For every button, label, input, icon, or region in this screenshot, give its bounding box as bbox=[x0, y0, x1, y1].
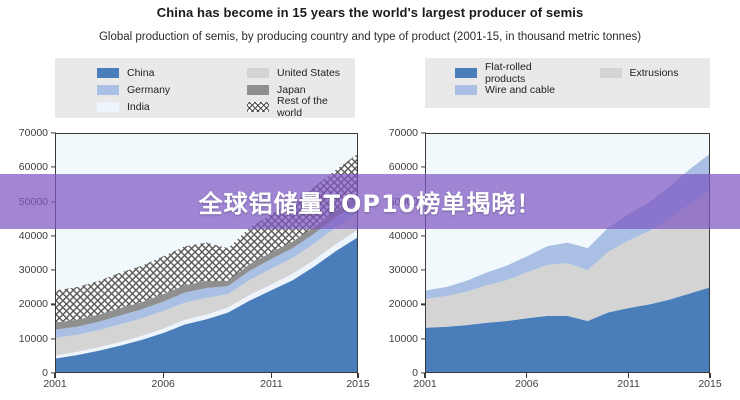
legend-swatch-icon bbox=[97, 85, 119, 95]
y-axis-tick-label: 10000 bbox=[19, 333, 48, 345]
x-axis-tick-mark bbox=[424, 373, 425, 378]
y-axis-tick-label: 60000 bbox=[19, 161, 48, 173]
y-axis-tick-mark bbox=[51, 270, 56, 271]
chart-page: China has become in 15 years the world's… bbox=[0, 0, 740, 400]
area-chart-left bbox=[56, 134, 357, 372]
y-axis-tick-label: 20000 bbox=[19, 298, 48, 310]
plot-area-right bbox=[425, 133, 710, 373]
legend-swatch-icon bbox=[247, 68, 269, 78]
legend-swatch-icon bbox=[455, 68, 477, 78]
promo-banner: 全球铝储量TOP10榜单揭晓！ bbox=[0, 174, 740, 229]
y-axis-tick-label: 20000 bbox=[389, 298, 418, 310]
legend-product-item[interactable]: Wire and cable bbox=[425, 81, 568, 98]
legend-product-types: Flat-rolled productsExtrusionsWire and c… bbox=[425, 58, 710, 108]
legend-label: China bbox=[127, 67, 154, 79]
x-axis-tick-label: 2001 bbox=[413, 378, 436, 390]
x-axis-tick-label: 2006 bbox=[515, 378, 538, 390]
legend-swatch-icon bbox=[97, 102, 119, 112]
legend-swatch-icon bbox=[247, 85, 269, 95]
y-axis-tick-label: 10000 bbox=[389, 333, 418, 345]
legend-product-item[interactable]: Flat-rolled products bbox=[425, 64, 568, 81]
y-axis-tick-label: 40000 bbox=[19, 230, 48, 242]
legend-product-item[interactable]: Extrusions bbox=[568, 64, 711, 81]
legend-country-item[interactable]: China bbox=[55, 64, 205, 81]
x-axis-tick-mark bbox=[628, 373, 629, 378]
legend-country-item[interactable]: Rest of the world bbox=[205, 98, 355, 115]
y-axis-tick-mark bbox=[421, 270, 426, 271]
legend-label: Germany bbox=[127, 84, 170, 96]
legend-swatch-icon bbox=[97, 68, 119, 78]
x-axis-tick-label: 2011 bbox=[260, 378, 283, 390]
chart-by-product-type: 0100002000030000400005000060000700002001… bbox=[425, 133, 710, 373]
y-axis-tick-label: 40000 bbox=[389, 230, 418, 242]
y-axis-tick-label: 30000 bbox=[389, 264, 418, 276]
legend-country-item[interactable]: Germany bbox=[55, 81, 205, 98]
x-axis-tick-mark bbox=[709, 373, 710, 378]
x-axis-tick-label: 2001 bbox=[43, 378, 66, 390]
y-axis-tick-label: 60000 bbox=[389, 161, 418, 173]
y-axis-tick-mark bbox=[421, 167, 426, 168]
x-axis-tick-mark bbox=[54, 373, 55, 378]
y-axis-tick-label: 70000 bbox=[19, 127, 48, 139]
y-axis-tick-mark bbox=[51, 132, 56, 133]
legend-swatch-icon bbox=[455, 85, 477, 95]
y-axis-tick-mark bbox=[421, 235, 426, 236]
promo-banner-text: 全球铝储量TOP10榜单揭晓！ bbox=[199, 184, 542, 219]
y-axis-tick-mark bbox=[421, 304, 426, 305]
x-axis-tick-label: 2006 bbox=[152, 378, 175, 390]
x-axis-tick-mark bbox=[271, 373, 272, 378]
legend-label: India bbox=[127, 101, 150, 113]
chart-by-country: 0100002000030000400005000060000700002001… bbox=[55, 133, 358, 373]
plot-area-left bbox=[55, 133, 358, 373]
y-axis-tick-mark bbox=[51, 304, 56, 305]
legend-label: Wire and cable bbox=[485, 84, 555, 96]
x-axis-tick-label: 2015 bbox=[698, 378, 721, 390]
area-chart-right bbox=[426, 134, 709, 372]
page-title: China has become in 15 years the world's… bbox=[0, 5, 740, 20]
x-axis-tick-mark bbox=[357, 373, 358, 378]
legend-swatch-icon bbox=[600, 68, 622, 78]
x-axis-tick-label: 2011 bbox=[617, 378, 640, 390]
y-axis-tick-mark bbox=[421, 132, 426, 133]
legend-label: United States bbox=[277, 67, 340, 79]
legend-country-item[interactable]: India bbox=[55, 98, 205, 115]
x-axis-tick-mark bbox=[163, 373, 164, 378]
y-axis-tick-label: 30000 bbox=[19, 264, 48, 276]
y-axis-tick-mark bbox=[51, 338, 56, 339]
legend-countries: ChinaUnited StatesGermanyJapanIndiaRest … bbox=[55, 58, 355, 118]
page-subtitle: Global production of semis, by producing… bbox=[0, 31, 740, 43]
y-axis-tick-mark bbox=[51, 235, 56, 236]
y-axis-tick-label: 70000 bbox=[389, 127, 418, 139]
y-axis-tick-mark bbox=[51, 167, 56, 168]
legend-label: Rest of the world bbox=[277, 95, 355, 119]
legend-country-item[interactable]: United States bbox=[205, 64, 355, 81]
x-axis-tick-mark bbox=[526, 373, 527, 378]
legend-label: Extrusions bbox=[630, 67, 679, 79]
y-axis-tick-mark bbox=[421, 338, 426, 339]
x-axis-tick-label: 2015 bbox=[346, 378, 369, 390]
legend-swatch-icon bbox=[247, 102, 269, 112]
